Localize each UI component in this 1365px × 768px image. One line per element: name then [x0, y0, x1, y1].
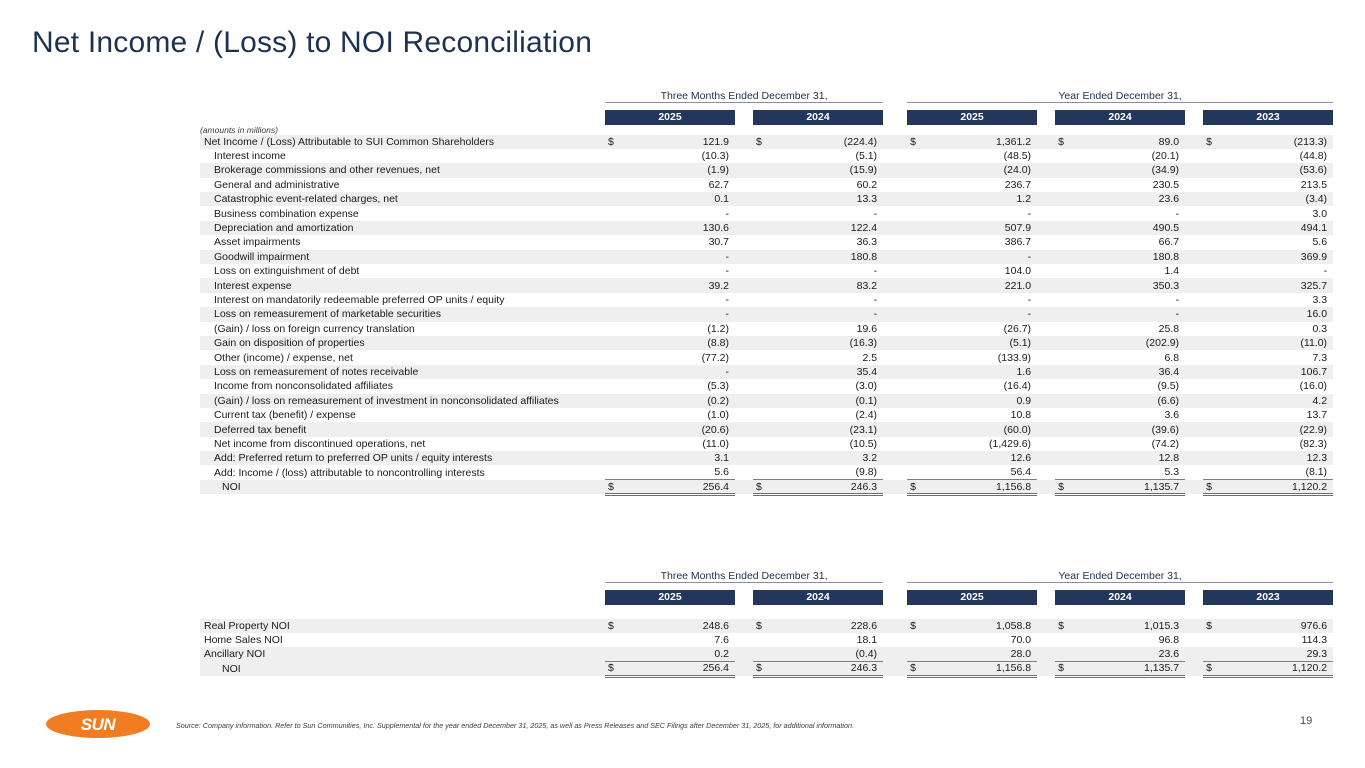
column-gap — [1037, 633, 1055, 647]
row-label: (Gain) / loss on foreign currency transl… — [200, 322, 605, 336]
currency-symbol — [907, 394, 929, 408]
currency-symbol — [1203, 192, 1225, 206]
cell-value: 56.4 — [929, 465, 1037, 479]
row-label: Home Sales NOI — [200, 633, 605, 647]
currency-symbol — [1203, 307, 1225, 321]
currency-symbol — [1203, 206, 1225, 220]
cell-value: - — [627, 365, 735, 379]
table-row: Loss on remeasurement of marketable secu… — [200, 307, 1333, 321]
currency-symbol: $ — [605, 480, 627, 494]
table-row: Catastrophic event-related charges, net0… — [200, 192, 1333, 206]
currency-symbol — [753, 264, 775, 278]
column-gap — [883, 662, 907, 676]
currency-symbol — [753, 206, 775, 220]
currency-symbol — [1203, 264, 1225, 278]
currency-symbol — [1203, 278, 1225, 292]
currency-symbol: $ — [1055, 662, 1077, 676]
currency-symbol — [907, 647, 929, 661]
cell-value: 5.3 — [1077, 465, 1185, 479]
cell-value: (3.4) — [1225, 192, 1333, 206]
table-row: Home Sales NOI7.618.170.096.8114.3 — [200, 633, 1333, 647]
currency-symbol — [1203, 293, 1225, 307]
column-gap — [735, 465, 753, 479]
row-label: General and administrative — [200, 178, 605, 192]
cell-value: 30.7 — [627, 235, 735, 249]
currency-symbol — [605, 322, 627, 336]
column-gap — [1037, 465, 1055, 479]
column-gap — [735, 293, 753, 307]
cell-value: - — [627, 264, 735, 278]
column-gap — [735, 322, 753, 336]
year-band-row: 20252024202520242023 — [200, 102, 1333, 125]
column-gap — [883, 394, 907, 408]
cell-value: - — [627, 307, 735, 321]
column-gap — [1185, 422, 1203, 436]
group-header-gap — [883, 86, 907, 102]
row-label: Loss on extinguishment of debt — [200, 264, 605, 278]
cell-value: 121.9 — [627, 135, 735, 149]
cell-value: 1.2 — [929, 192, 1037, 206]
currency-symbol — [605, 278, 627, 292]
column-gap — [1185, 350, 1203, 364]
cell-value: (22.9) — [1225, 422, 1333, 436]
currency-symbol — [605, 178, 627, 192]
currency-symbol — [605, 408, 627, 422]
cell-value: 10.8 — [929, 408, 1037, 422]
column-gap — [735, 336, 753, 350]
row-label: NOI — [200, 662, 605, 676]
currency-symbol: $ — [605, 135, 627, 149]
cell-value: 3.1 — [627, 451, 735, 465]
year-label: 2024 — [1055, 110, 1185, 125]
column-gap — [883, 379, 907, 393]
currency-symbol: $ — [907, 662, 929, 676]
cell-value: 4.2 — [1225, 394, 1333, 408]
column-gap — [1185, 465, 1203, 479]
cell-value: (26.7) — [929, 322, 1037, 336]
currency-symbol — [1203, 633, 1225, 647]
cell-value: 13.3 — [775, 192, 883, 206]
column-gap — [735, 102, 753, 125]
cell-value: - — [1077, 293, 1185, 307]
currency-symbol — [907, 278, 929, 292]
currency-symbol — [753, 465, 775, 479]
column-gap — [1185, 221, 1203, 235]
currency-symbol — [605, 206, 627, 220]
cell-value: (133.9) — [929, 350, 1037, 364]
units-note: (amounts in millions) — [200, 125, 605, 135]
currency-symbol — [753, 437, 775, 451]
currency-symbol — [605, 394, 627, 408]
cell-value: 256.4 — [627, 662, 735, 676]
currency-symbol — [753, 235, 775, 249]
cell-value: (0.2) — [627, 394, 735, 408]
table-row: Income from nonconsolidated affiliates(5… — [200, 379, 1333, 393]
column-gap — [1037, 235, 1055, 249]
currency-symbol — [1203, 163, 1225, 177]
currency-symbol: $ — [753, 662, 775, 676]
year-column-header-2025-2[interactable]: 2025 — [907, 582, 1037, 605]
column-gap — [1037, 336, 1055, 350]
column-gap — [735, 619, 753, 633]
currency-symbol — [605, 437, 627, 451]
cell-value: 23.6 — [1077, 192, 1185, 206]
column-gap — [883, 336, 907, 350]
currency-symbol — [605, 422, 627, 436]
row-label: Interest income — [200, 149, 605, 163]
currency-symbol — [605, 647, 627, 661]
cell-value: 325.7 — [1225, 278, 1333, 292]
cell-value: - — [929, 206, 1037, 220]
column-gap — [1185, 379, 1203, 393]
currency-symbol: $ — [753, 480, 775, 494]
currency-symbol — [907, 350, 929, 364]
row-label: Asset impairments — [200, 235, 605, 249]
year-label: 2024 — [753, 110, 883, 125]
currency-symbol — [753, 365, 775, 379]
units-note-filler — [605, 125, 1333, 135]
cell-value: (60.0) — [929, 422, 1037, 436]
column-gap — [1037, 662, 1055, 676]
cell-value: (0.1) — [775, 394, 883, 408]
currency-symbol — [753, 221, 775, 235]
column-gap — [1037, 582, 1055, 605]
column-gap — [883, 250, 907, 264]
column-gap — [1037, 221, 1055, 235]
column-gap — [1037, 149, 1055, 163]
cell-value: (224.4) — [775, 135, 883, 149]
group-header-gap — [883, 566, 907, 582]
currency-symbol — [1203, 437, 1225, 451]
currency-symbol — [753, 322, 775, 336]
cell-value: 122.4 — [775, 221, 883, 235]
cell-value: - — [929, 250, 1037, 264]
currency-symbol: $ — [1203, 662, 1225, 676]
column-gap — [1185, 149, 1203, 163]
column-gap — [883, 163, 907, 177]
currency-symbol — [907, 379, 929, 393]
cell-value: - — [627, 293, 735, 307]
year-column-header-2024-3[interactable]: 2024 — [1055, 582, 1185, 605]
column-gap — [735, 394, 753, 408]
year-label: 2023 — [1203, 590, 1333, 605]
row-label: Interest on mandatorily redeemable prefe… — [200, 293, 605, 307]
column-gap — [735, 662, 753, 676]
column-gap — [883, 293, 907, 307]
row-label: Loss on remeasurement of marketable secu… — [200, 307, 605, 321]
cell-value: (3.0) — [775, 379, 883, 393]
group-header-quarter: Three Months Ended December 31, — [605, 86, 883, 102]
cell-value: (6.6) — [1077, 394, 1185, 408]
column-gap — [735, 192, 753, 206]
year-column-header-2023-4[interactable]: 2023 — [1203, 102, 1333, 125]
table-row: Add: Income / (loss) attributable to non… — [200, 465, 1333, 479]
group-header-row: Three Months Ended December 31,Year Ende… — [200, 566, 1333, 582]
cell-value: (16.3) — [775, 336, 883, 350]
currency-symbol — [1055, 336, 1077, 350]
cell-value: 1.6 — [929, 365, 1037, 379]
cell-value: (16.0) — [1225, 379, 1333, 393]
cell-value: (1.9) — [627, 163, 735, 177]
currency-symbol: $ — [1203, 480, 1225, 494]
column-gap — [735, 647, 753, 661]
currency-symbol — [605, 163, 627, 177]
row-label: Goodwill impairment — [200, 250, 605, 264]
column-gap — [1185, 394, 1203, 408]
column-gap — [1185, 480, 1203, 494]
table-row: Business combination expense----3.0 — [200, 206, 1333, 220]
row-label: NOI — [200, 480, 605, 494]
column-gap — [883, 264, 907, 278]
column-gap — [735, 250, 753, 264]
column-gap — [735, 633, 753, 647]
currency-symbol — [907, 250, 929, 264]
currency-symbol — [605, 633, 627, 647]
currency-symbol — [1203, 379, 1225, 393]
currency-symbol — [1203, 336, 1225, 350]
cell-value: 221.0 — [929, 278, 1037, 292]
currency-symbol — [907, 192, 929, 206]
currency-symbol — [1203, 365, 1225, 379]
cell-value: 386.7 — [929, 235, 1037, 249]
currency-symbol — [1055, 178, 1077, 192]
cell-value: 2.5 — [775, 350, 883, 364]
currency-symbol — [1203, 647, 1225, 661]
group-header-spacer — [200, 566, 605, 582]
cell-value: 3.6 — [1077, 408, 1185, 422]
cell-value: 213.5 — [1225, 178, 1333, 192]
currency-symbol — [605, 365, 627, 379]
column-gap — [1185, 307, 1203, 321]
sun-logo: SUN — [46, 710, 150, 738]
cell-value: 1,156.8 — [929, 662, 1037, 676]
column-gap — [735, 278, 753, 292]
table-row: Brokerage commissions and other revenues… — [200, 163, 1333, 177]
currency-symbol — [907, 221, 929, 235]
column-gap — [735, 408, 753, 422]
cell-value: 12.6 — [929, 451, 1037, 465]
currency-symbol — [907, 365, 929, 379]
currency-symbol — [753, 379, 775, 393]
table-row: Net income from discontinued operations,… — [200, 437, 1333, 451]
cell-value: 29.3 — [1225, 647, 1333, 661]
currency-symbol — [1055, 278, 1077, 292]
cell-value: (1.0) — [627, 408, 735, 422]
currency-symbol: $ — [753, 619, 775, 633]
row-label: Current tax (benefit) / expense — [200, 408, 605, 422]
column-gap — [735, 135, 753, 149]
column-gap — [1037, 135, 1055, 149]
column-gap — [1037, 250, 1055, 264]
currency-symbol: $ — [907, 480, 929, 494]
column-gap — [883, 365, 907, 379]
cell-value: - — [929, 307, 1037, 321]
source-note: Source: Company information. Refer to Su… — [176, 721, 854, 730]
cell-value: (15.9) — [775, 163, 883, 177]
currency-symbol — [605, 336, 627, 350]
column-gap — [1037, 422, 1055, 436]
cell-value: (5.1) — [929, 336, 1037, 350]
year-band-spacer — [200, 102, 605, 125]
currency-symbol: $ — [1203, 619, 1225, 633]
currency-symbol — [605, 451, 627, 465]
currency-symbol: $ — [1203, 135, 1225, 149]
currency-symbol — [605, 264, 627, 278]
currency-symbol — [753, 350, 775, 364]
cell-value: (74.2) — [1077, 437, 1185, 451]
cell-value: 5.6 — [1225, 235, 1333, 249]
currency-symbol — [1055, 250, 1077, 264]
cell-value: 494.1 — [1225, 221, 1333, 235]
currency-symbol — [1055, 221, 1077, 235]
table-row: Deferred tax benefit(20.6)(23.1)(60.0)(3… — [200, 422, 1333, 436]
year-column-header-2024-1[interactable]: 2024 — [753, 102, 883, 125]
cell-value: 19.6 — [775, 322, 883, 336]
currency-symbol — [605, 192, 627, 206]
cell-value: 12.3 — [1225, 451, 1333, 465]
currency-symbol — [605, 235, 627, 249]
column-gap — [1185, 192, 1203, 206]
column-gap — [883, 221, 907, 235]
column-gap — [1037, 451, 1055, 465]
currency-symbol — [1055, 192, 1077, 206]
year-column-header-2025-2[interactable]: 2025 — [907, 102, 1037, 125]
column-gap — [735, 163, 753, 177]
year-column-header-2025-0[interactable]: 2025 — [605, 582, 735, 605]
currency-symbol — [1203, 422, 1225, 436]
currency-symbol — [605, 465, 627, 479]
cell-value: 246.3 — [775, 480, 883, 494]
column-gap — [883, 619, 907, 633]
table-row: Net Income / (Loss) Attributable to SUI … — [200, 135, 1333, 149]
currency-symbol: $ — [907, 135, 929, 149]
currency-symbol — [753, 647, 775, 661]
row-label: Real Property NOI — [200, 619, 605, 633]
currency-symbol — [1055, 264, 1077, 278]
column-gap — [883, 135, 907, 149]
group-header-row: Three Months Ended December 31,Year Ende… — [200, 86, 1333, 102]
currency-symbol — [907, 206, 929, 220]
cell-value: 246.3 — [775, 662, 883, 676]
currency-symbol — [753, 633, 775, 647]
year-band-spacer — [200, 582, 605, 605]
column-gap — [1185, 235, 1203, 249]
column-gap — [1037, 278, 1055, 292]
cell-value: (10.5) — [775, 437, 883, 451]
cell-value: (44.8) — [1225, 149, 1333, 163]
cell-value: (24.0) — [929, 163, 1037, 177]
column-gap — [1037, 102, 1055, 125]
year-column-header-2023-4[interactable]: 2023 — [1203, 582, 1333, 605]
currency-symbol — [1055, 422, 1077, 436]
currency-symbol — [753, 163, 775, 177]
currency-symbol — [753, 250, 775, 264]
currency-symbol: $ — [1055, 480, 1077, 494]
row-label: Interest expense — [200, 278, 605, 292]
currency-symbol — [1203, 178, 1225, 192]
units-note-row: (amounts in millions) — [200, 125, 1333, 135]
year-label: 2025 — [907, 110, 1037, 125]
cell-value: (82.3) — [1225, 437, 1333, 451]
cell-value: (48.5) — [929, 149, 1037, 163]
table-row: Asset impairments30.736.3386.766.75.6 — [200, 235, 1333, 249]
cell-value: (39.6) — [1077, 422, 1185, 436]
year-column-header-2024-1[interactable]: 2024 — [753, 582, 883, 605]
cell-value: 236.7 — [929, 178, 1037, 192]
currency-symbol — [753, 394, 775, 408]
year-label: 2024 — [1055, 590, 1185, 605]
currency-symbol — [605, 350, 627, 364]
currency-symbol — [1203, 235, 1225, 249]
cell-value: 60.2 — [775, 178, 883, 192]
group-header-year: Year Ended December 31, — [907, 566, 1333, 582]
currency-symbol — [907, 633, 929, 647]
year-column-header-2025-0[interactable]: 2025 — [605, 102, 735, 125]
year-column-header-2024-3[interactable]: 2024 — [1055, 102, 1185, 125]
cell-value: (53.6) — [1225, 163, 1333, 177]
cell-value: - — [627, 250, 735, 264]
cell-value: 7.6 — [627, 633, 735, 647]
cell-value: 36.4 — [1077, 365, 1185, 379]
cell-value: 5.6 — [627, 465, 735, 479]
cell-value: - — [775, 206, 883, 220]
table-row: Loss on extinguishment of debt--104.01.4… — [200, 264, 1333, 278]
cell-value: 230.5 — [1077, 178, 1185, 192]
page-title: Net Income / (Loss) to NOI Reconciliatio… — [32, 26, 592, 60]
column-gap — [883, 102, 907, 125]
table-row: Ancillary NOI0.2(0.4)28.023.629.3 — [200, 647, 1333, 661]
currency-symbol — [1055, 365, 1077, 379]
column-gap — [735, 206, 753, 220]
cell-value: 0.2 — [627, 647, 735, 661]
currency-symbol — [753, 192, 775, 206]
year-label: 2023 — [1203, 110, 1333, 125]
row-label: Loss on remeasurement of notes receivabl… — [200, 365, 605, 379]
row-label: Ancillary NOI — [200, 647, 605, 661]
currency-symbol — [1055, 379, 1077, 393]
year-band-row: 20252024202520242023 — [200, 582, 1333, 605]
row-label: Brokerage commissions and other revenues… — [200, 163, 605, 177]
cell-value: 369.9 — [1225, 250, 1333, 264]
cell-value: (9.5) — [1077, 379, 1185, 393]
cell-value: 70.0 — [929, 633, 1037, 647]
column-gap — [735, 149, 753, 163]
currency-symbol — [605, 379, 627, 393]
column-gap — [735, 221, 753, 235]
column-gap — [1037, 379, 1055, 393]
currency-symbol — [907, 235, 929, 249]
table-row: Goodwill impairment-180.8-180.8369.9 — [200, 250, 1333, 264]
row-label: Business combination expense — [200, 206, 605, 220]
year-label: 2025 — [605, 110, 735, 125]
currency-symbol — [1203, 221, 1225, 235]
table-row: Current tax (benefit) / expense(1.0)(2.4… — [200, 408, 1333, 422]
column-gap — [1185, 278, 1203, 292]
column-gap — [735, 307, 753, 321]
column-gap — [883, 422, 907, 436]
table-top-spacer — [200, 605, 1333, 619]
currency-symbol — [605, 149, 627, 163]
row-label: Net income from discontinued operations,… — [200, 437, 605, 451]
currency-symbol — [1055, 322, 1077, 336]
cell-value: (5.3) — [627, 379, 735, 393]
column-gap — [1037, 264, 1055, 278]
column-gap — [1185, 451, 1203, 465]
column-gap — [1185, 163, 1203, 177]
cell-value: (20.1) — [1077, 149, 1185, 163]
column-gap — [883, 465, 907, 479]
currency-symbol — [1203, 408, 1225, 422]
